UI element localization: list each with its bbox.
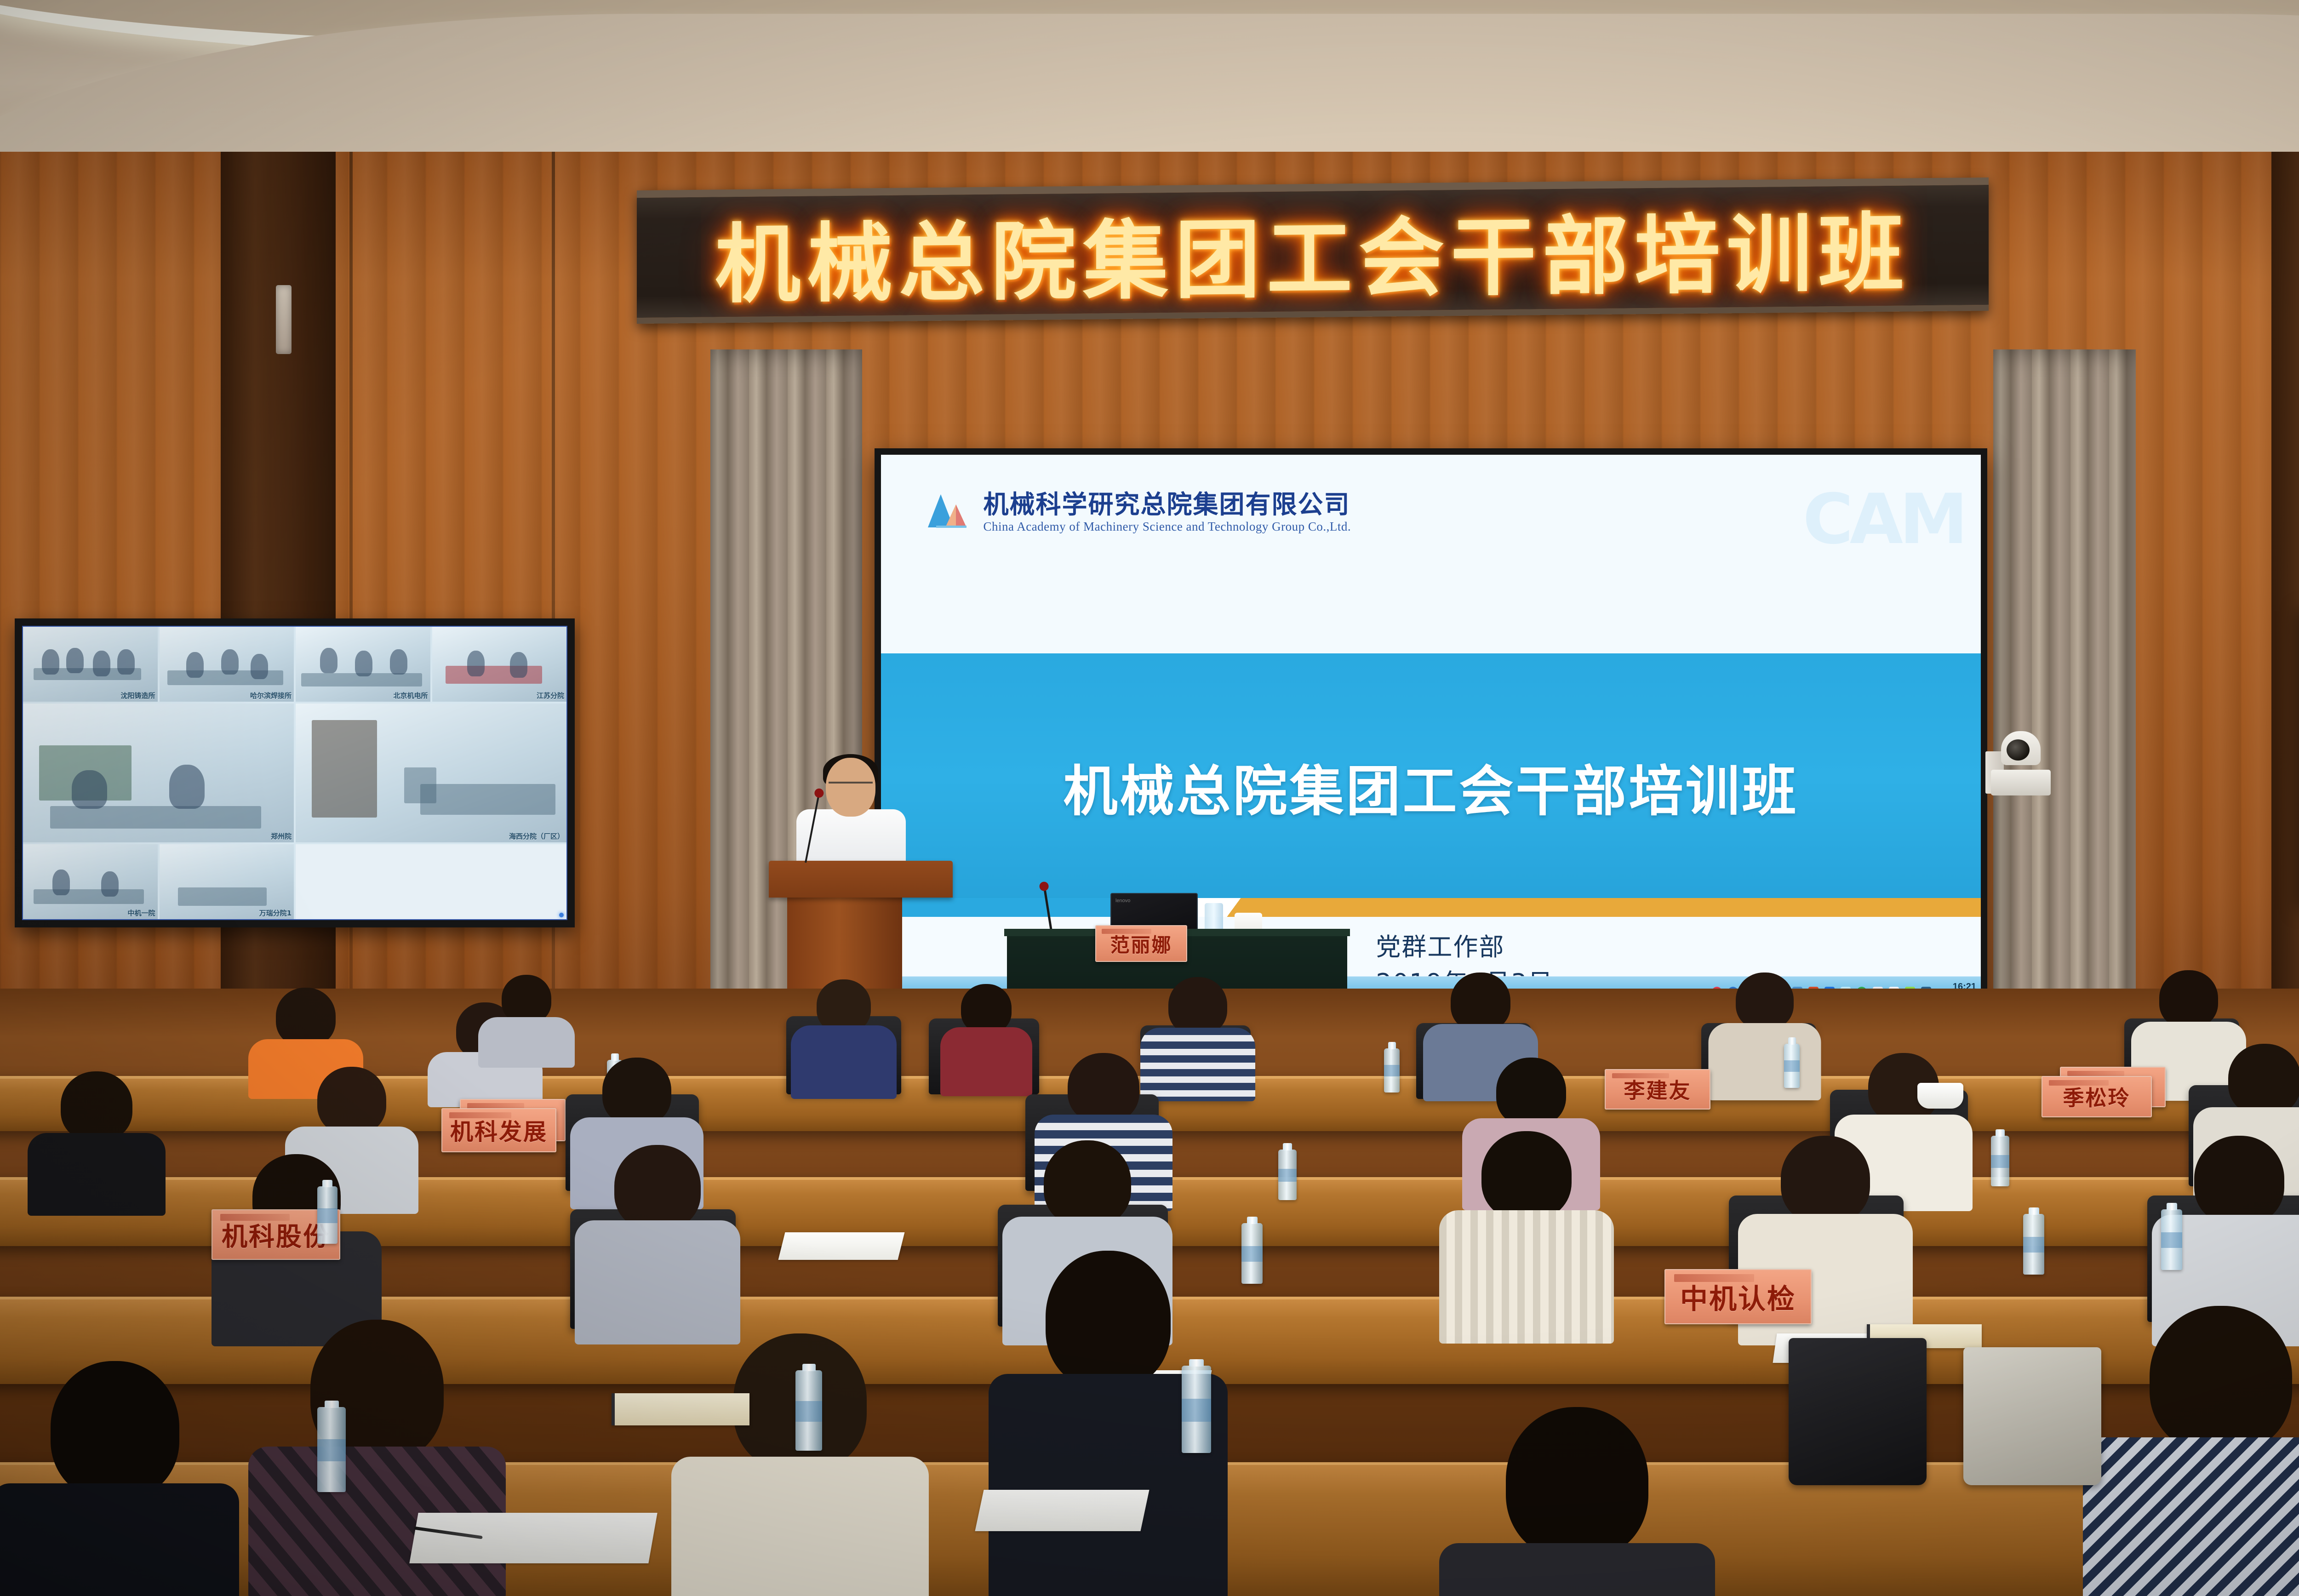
wall-light-slot [276,285,292,354]
paper-document [409,1513,657,1563]
video-cell-label: 郑州院 [271,831,292,841]
attendee [1439,1131,1614,1338]
video-cell: 江苏分院 [432,627,567,702]
water-bottle [1384,1048,1400,1093]
cam-watermark: CAM [1803,480,1964,560]
paper-document [778,1232,905,1260]
laptop-brand-label: lenovo [1115,898,1130,904]
camtc-logo-icon [927,491,975,535]
led-banner: 机械总院集团工会干部培训班 [637,177,1989,324]
video-cell: 中机一院 [23,844,158,919]
name-placard: 季松玲 [2042,1076,2152,1117]
water-bottle [1241,1223,1263,1284]
led-banner-text: 机械总院集团工会干部培训班 [715,183,1910,319]
attendee [0,1361,239,1596]
video-cell: 北京机电所 [296,627,430,702]
video-cell: 万瑞分院1 [160,844,294,919]
water-bottle [1784,1044,1800,1088]
attendee [1708,972,1821,1099]
attendee [28,1071,166,1209]
company-logo-row: 机械科学研究总院集团有限公司 China Academy of Machiner… [927,491,1351,535]
video-cell-label: 万瑞分院1 [259,908,292,918]
video-cell-label: 中机一院 [127,908,155,918]
video-conference-monitor-left: 沈阳铸造所 哈尔滨焊接所 北京机电所 江苏分院 [15,618,575,927]
video-cell-label: 沈阳铸造所 [120,691,155,700]
attendee [940,984,1032,1094]
name-placard: 范丽娜 [1095,925,1187,962]
water-bottle [1182,1366,1211,1453]
handbag [1963,1347,2101,1485]
video-cell-label: 哈尔滨焊接所 [250,691,292,700]
attendee [478,975,575,1058]
ptz-camera-icon [1991,731,2051,795]
video-cell: 海西分院（厂区） [296,704,566,842]
tea-cup [1917,1083,1963,1109]
company-name-cn: 机械科学研究总院集团有限公司 [983,492,1351,518]
video-cell: 哈尔滨焊接所 [160,627,294,702]
monitor-power-led-icon [559,913,564,917]
water-bottle [2161,1209,2182,1270]
water-bottle [795,1370,822,1451]
video-cell-empty [296,844,566,919]
name-placard: 机科发展 [441,1108,556,1152]
name-placard: 李建友 [1605,1069,1710,1110]
video-cell-label: 江苏分院 [537,691,564,700]
wall-seam [349,152,353,1071]
water-bottle [2023,1214,2044,1275]
conference-room-photo: 机械总院集团工会干部培训班 机械科学研究总院集团有限公司 China Acade… [0,0,2299,1596]
video-cell: 郑州院 [23,704,294,842]
video-grid: 沈阳铸造所 哈尔滨焊接所 北京机电所 江苏分院 [22,626,567,920]
company-name-en: China Academy of Machinery Science and T… [983,520,1351,534]
water-bottle [317,1407,346,1492]
water-bottle [317,1186,337,1244]
water-bottle [1278,1150,1297,1200]
presentation-slide: 机械科学研究总院集团有限公司 China Academy of Machiner… [881,455,1981,1007]
video-cell-label: 海西分院（厂区） [509,831,564,841]
backpack [1789,1338,1927,1485]
eyeglasses-icon [829,782,873,792]
notebook [612,1393,749,1425]
slide-department: 党群工作部 [1376,927,1504,963]
wall-dark-column-right [2271,152,2299,1007]
stage-curtain-right [1993,349,2136,1067]
attendee [791,979,897,1094]
wall-seam [552,152,555,1071]
slide-title: 机械总院集团工会干部培训班 [881,747,1981,826]
attendee [2083,1306,2299,1596]
attendee [575,1145,740,1338]
paper-document [975,1490,1149,1531]
video-cell-label: 北京机电所 [393,691,428,700]
video-cell: 沈阳铸造所 [23,627,158,702]
name-placard: 中机认检 [1664,1269,1812,1324]
water-bottle [1991,1136,2009,1186]
attendee [1439,1407,1715,1596]
